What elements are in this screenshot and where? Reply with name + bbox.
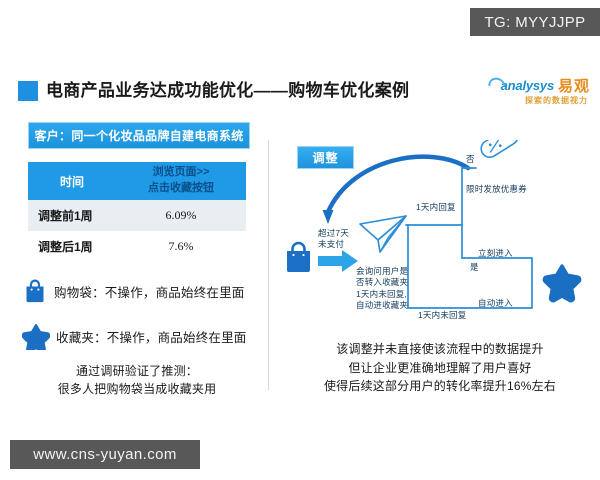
bottom-note: 该调整并未直接使该流程中的数据提升 但让企业更准确地理解了用户喜好 使得后续这部… [282,340,598,396]
column-divider [268,140,269,390]
list-item-label: 购物袋：不操作，商品始终在里面 [54,282,245,301]
table-cell-rate: 7.6% [116,231,246,262]
bottom-note-line-1: 该调整并未直接使该流程中的数据提升 [282,340,598,359]
paper-plane-icon [360,216,406,252]
flow-label-ask-user-line3: 1天内未回复, [356,289,407,299]
site-watermark-badge: www.cns-yuyan.com [10,440,200,469]
flow-label-coupon: 限时发放优惠券 [466,184,527,195]
table-header-metric-line1: 浏览页面>> [116,165,246,181]
flow-label-branch-no: 否 [466,154,475,165]
metrics-table: 时间 浏览页面>> 点击收藏按钮 调整前1周 6.09% 调整后1周 7.6% [28,162,246,262]
flow-label-branch-yes: 是 [470,262,479,273]
table-body: 调整前1周 6.09% 调整后1周 7.6% [28,200,246,262]
title-marker-square [18,81,38,101]
conclusion-line-1: 通过调研验证了推测： [28,362,246,380]
flow-label-ask-user: 会询问用户是 否转入收藏夹 1天内未回复, 自动进收藏夹 [356,266,408,312]
flow-label-ask-user-line2: 否转入收藏夹 [356,277,408,287]
conclusion-line-2: 很多人把购物袋当成收藏夹用 [28,380,246,398]
flow-label-ask-user-line1: 会询问用户是 [356,266,408,276]
list-item: 购物袋：不操作，商品始终在里面 [22,278,245,304]
slide-header: 电商产品业务达成功能优化——购物车优化案例 analysys 易观 探索的数据视… [0,72,600,110]
list-item-label: 收藏夹：不操作，商品始终在里面 [56,327,247,346]
table-row: 调整后1周 7.6% [28,231,246,262]
flow-label-overdue: 超过7天 未支付 [318,228,349,251]
bottom-note-line-3: 使得后续这部分用户的转化率提升16%左右 [282,377,598,396]
conclusion-text: 通过调研验证了推测： 很多人把购物袋当成收藏夹用 [28,362,246,398]
list-item: 收藏夹：不操作，商品始终在里面 [22,322,247,350]
page-title: 电商产品业务达成功能优化——购物车优化案例 [46,76,409,101]
flow-label-no-reply-1day: 1天内未回复 [418,310,466,321]
table-head: 时间 浏览页面>> 点击收藏按钮 [28,162,246,200]
flow-diagram: 超过7天 未支付 会询问用户是 否转入收藏夹 1天内未回复, 自动进收藏夹 1天… [280,140,600,340]
coupon-icon [478,140,521,160]
logo-tagline: 探索的数据视力 [525,95,588,106]
telegram-watermark-badge: TG: MYYJJPP [470,8,600,36]
analysys-logo: analysys 易观 探索的数据视力 [482,76,590,110]
bottom-note-line-2: 但让企业更准确地理解了用户喜好 [282,359,598,378]
table-row: 调整前1周 6.09% [28,200,246,231]
logo-wordmark: analysys 易观 [482,76,590,95]
shopping-bag-icon [22,278,48,304]
feedback-arrowhead [323,210,334,224]
slide-canvas: TG: MYYJJPP www.cns-yuyan.com 电商产品业务达成功能… [0,0,600,480]
flow-label-enter-now: 立刻进入 [478,248,513,259]
table-cell-period: 调整后1周 [28,231,116,262]
flow-shopping-bag-icon [287,243,310,272]
logo-text-en: analysys [501,78,554,93]
flow-label-overdue-line1: 超过7天 [318,228,349,238]
table-header-metric: 浏览页面>> 点击收藏按钮 [116,162,246,200]
flow-label-overdue-line2: 未支付 [318,239,344,249]
logo-text-cn: 易观 [558,75,590,96]
flow-label-ask-user-line4: 自动进收藏夹 [356,300,408,310]
star-icon [22,322,50,350]
table-cell-period: 调整前1周 [28,200,116,231]
table-cell-rate: 6.09% [116,200,246,231]
table-header-row: 时间 浏览页面>> 点击收藏按钮 [28,162,246,200]
flow-star-icon [544,266,579,301]
flow-label-enter-auto: 自动进入 [478,298,513,309]
table-header-time: 时间 [28,162,116,200]
table-header-metric-line2: 点击收藏按钮 [116,181,246,197]
process-block-arrow [318,250,358,272]
flow-label-reply-within-1day: 1天内回复 [416,202,456,213]
client-banner: 客户：同一个化妆品品牌自建电商系统 [28,122,250,149]
